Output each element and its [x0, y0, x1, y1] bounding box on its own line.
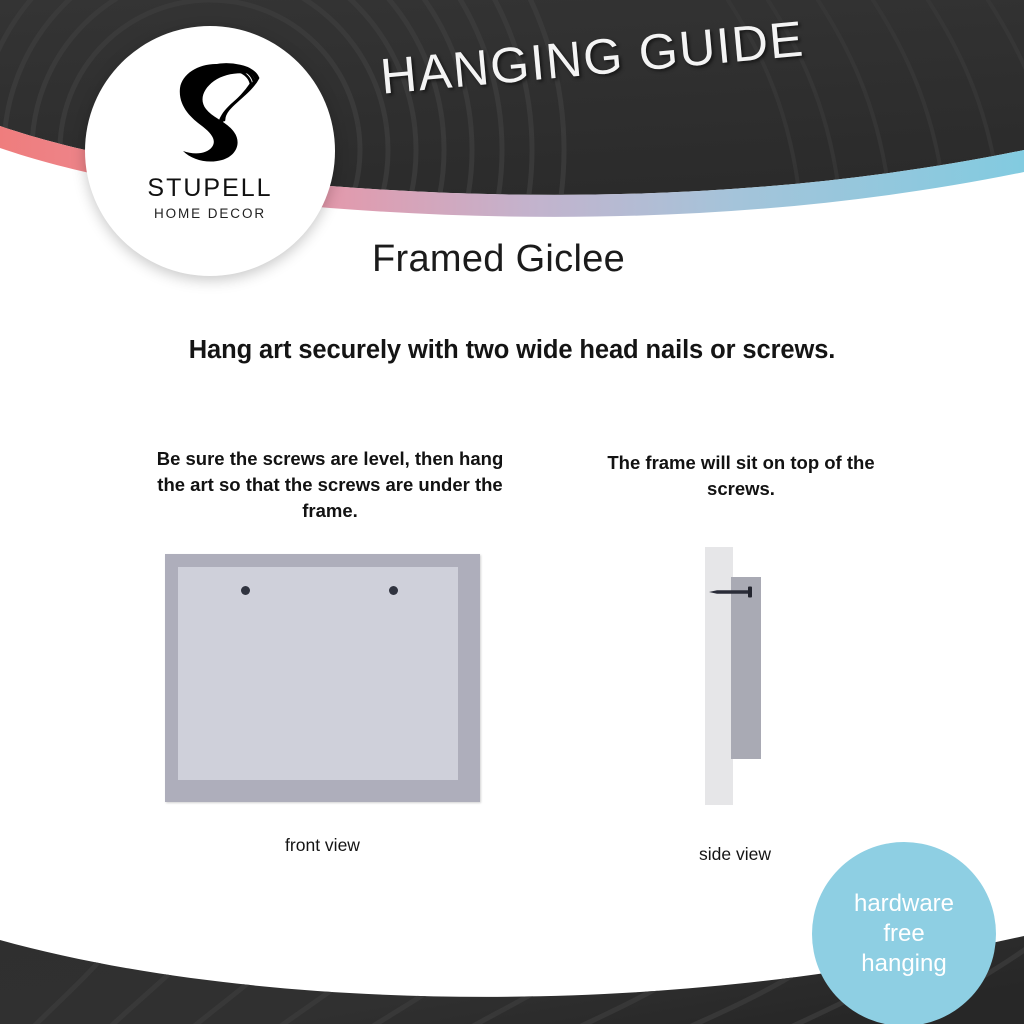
- nail-icon: [709, 585, 757, 599]
- badge-line-2: free: [883, 919, 924, 949]
- page-title: HANGING GUIDE: [378, 9, 807, 105]
- screw-dot-right: [389, 586, 398, 595]
- logo-brand-subtitle: HOME DECOR: [154, 206, 266, 221]
- brand-logo-badge: STUPELL HOME DECOR: [85, 26, 335, 276]
- side-view-caption: The frame will sit on top of the screws.: [596, 450, 886, 502]
- front-view-diagram: [165, 554, 480, 802]
- hanging-guide-poster: STUPELL HOME DECOR HANGING GUIDE Framed …: [0, 0, 1024, 1024]
- screw-dot-left: [241, 586, 250, 595]
- badge-line-3: hanging: [861, 949, 946, 979]
- logo-brand-name: STUPELL: [147, 174, 272, 203]
- side-view-label: side view: [640, 844, 830, 865]
- hardware-free-hanging-badge: hardware free hanging: [812, 842, 996, 1024]
- stupell-swoosh-icon: [150, 50, 270, 170]
- side-view-diagram: [705, 547, 775, 805]
- main-instruction-text: Hang art securely with two wide head nai…: [0, 336, 1024, 365]
- front-view-caption: Be sure the screws are level, then hang …: [150, 446, 510, 524]
- front-view-label: front view: [215, 835, 430, 856]
- product-type-label: Framed Giclee: [372, 238, 625, 281]
- badge-line-1: hardware: [854, 889, 954, 919]
- frame-cross-section: [731, 577, 761, 759]
- picture-frame-mat: [178, 567, 458, 780]
